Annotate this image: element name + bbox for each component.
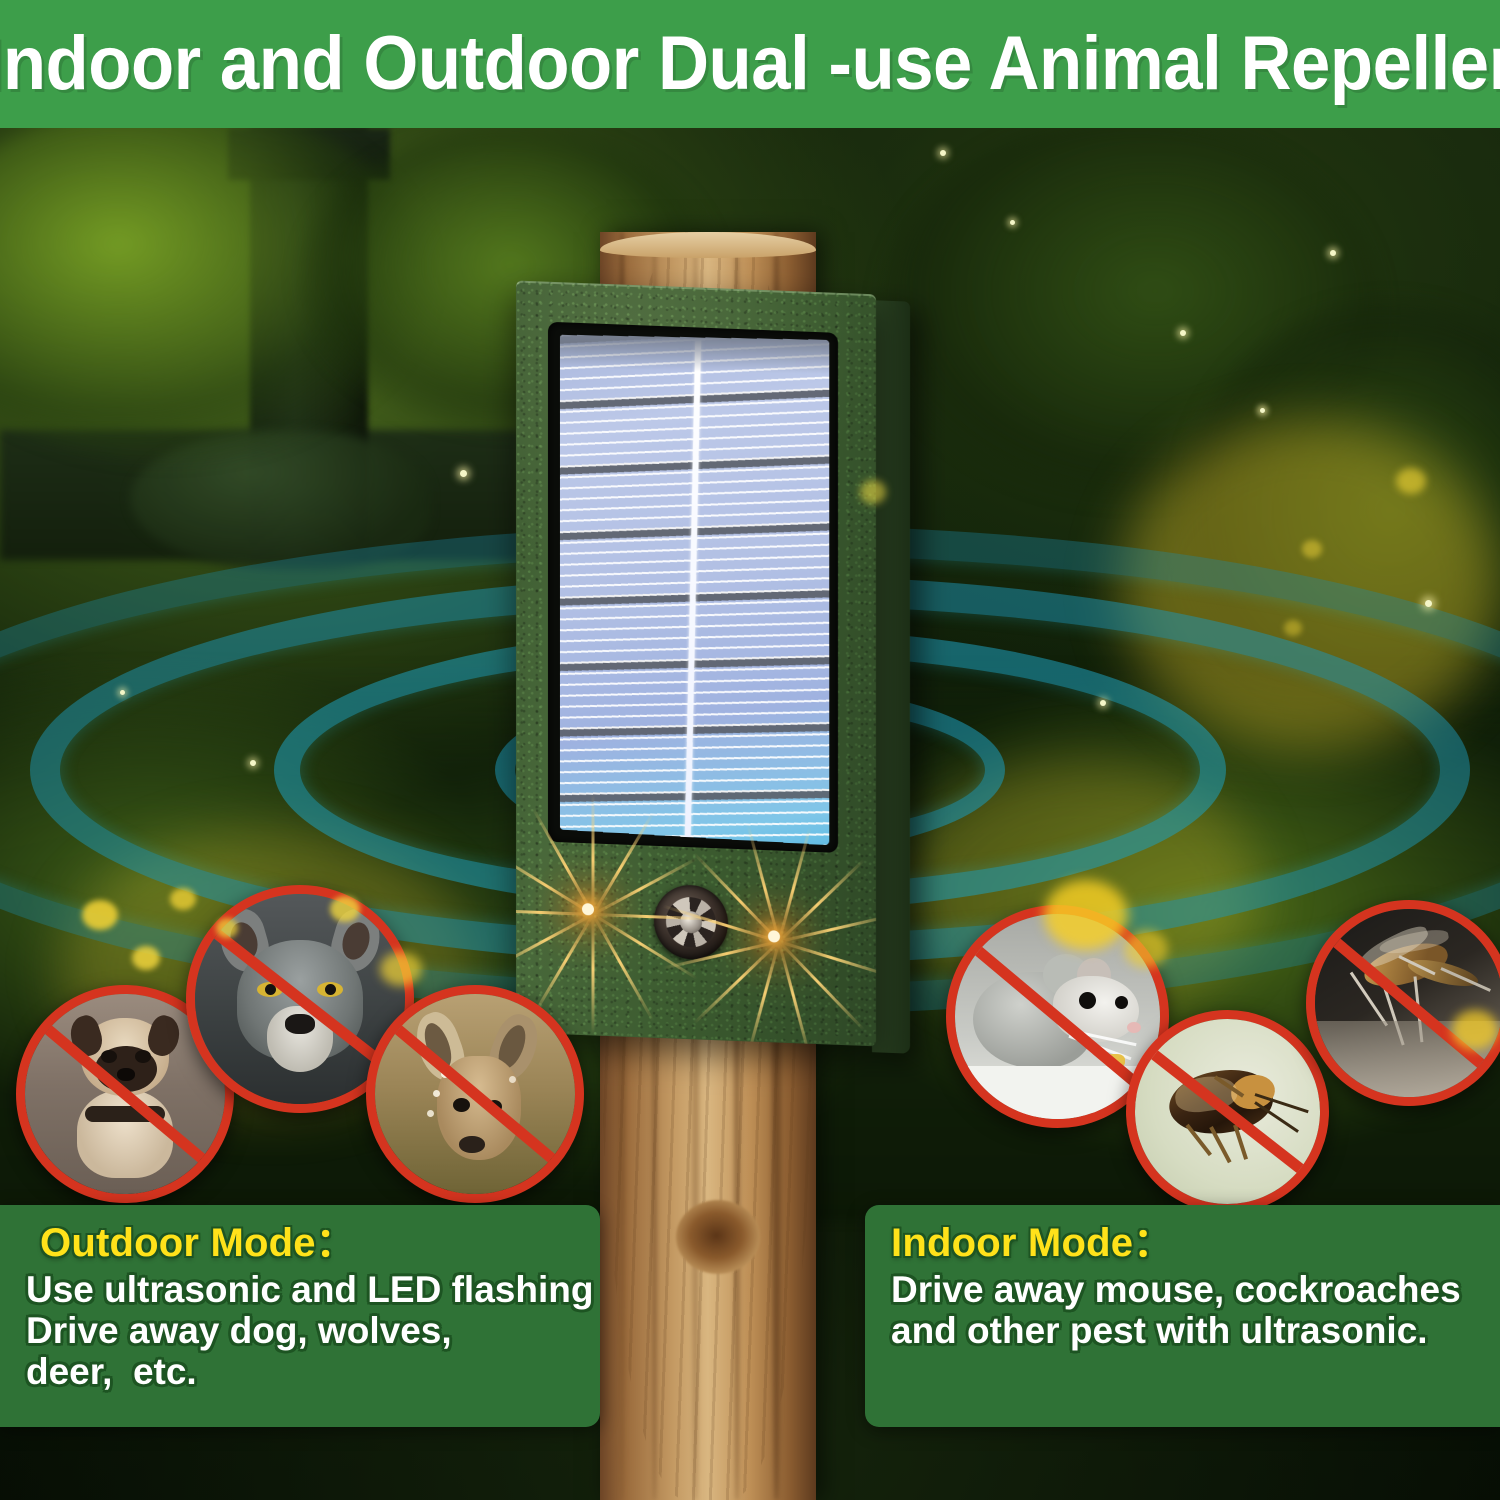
solar-panel-gloss: [560, 335, 829, 374]
product-marketing-image: Outdoor Mode： Use ultrasonic and LED fla…: [0, 0, 1500, 1500]
animal-repeller-device[interactable]: [516, 281, 906, 1056]
page-title: Indoor and Outdoor Dual -use Animal Repe…: [0, 26, 1500, 102]
indoor-mode-title: Indoor Mode：: [891, 1223, 1478, 1265]
no-deer-icon: [366, 985, 584, 1203]
outdoor-mode-line: Use ultrasonic and LED flashing: [26, 1269, 578, 1310]
no-cockroach-icon: [1126, 1010, 1329, 1213]
device-housing: [516, 281, 876, 1047]
indoor-mode-line: Drive away mouse, cockroaches: [891, 1269, 1478, 1310]
indoor-mode-panel: Indoor Mode： Drive away mouse, cockroach…: [865, 1205, 1500, 1427]
indoor-mode-line: and other pest with ultrasonic.: [891, 1310, 1478, 1351]
wood-knot: [676, 1200, 760, 1274]
solar-panel: [560, 335, 829, 845]
device-side-edge: [872, 300, 910, 1053]
led-light: [768, 930, 780, 942]
outdoor-mode-line: deer, etc.: [26, 1351, 578, 1392]
outdoor-mode-title: Outdoor Mode：: [26, 1223, 578, 1265]
solar-panel-bezel: [548, 322, 838, 853]
header-banner: Indoor and Outdoor Dual -use Animal Repe…: [0, 0, 1500, 128]
outdoor-mode-panel: Outdoor Mode： Use ultrasonic and LED fla…: [0, 1205, 600, 1427]
no-mosquito-icon: [1306, 900, 1500, 1106]
outdoor-mode-line: Drive away dog, wolves,: [26, 1310, 578, 1351]
led-light: [582, 903, 594, 915]
